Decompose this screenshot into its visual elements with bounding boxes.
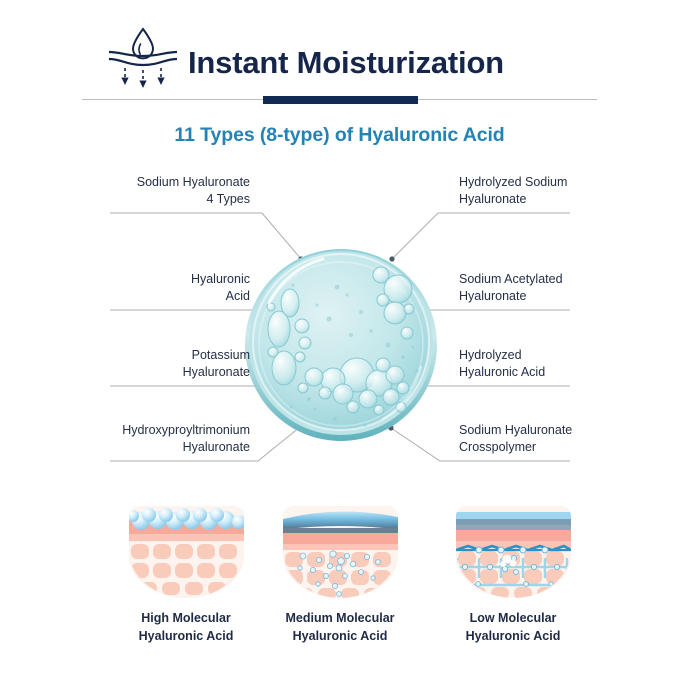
label-line-2: Acid (30, 288, 250, 305)
label-line-1: Sodium Acetylated (459, 271, 669, 288)
caption-line-2: Hyaluronic Acid (265, 627, 415, 645)
label-line-2: Crosspolymer (459, 439, 669, 456)
molecular-type-medium: Medium Molecular Hyaluronic Acid (265, 506, 415, 645)
label-line-2: Hyaluronate (459, 191, 669, 208)
label-line-2: Hyaluronate (459, 288, 669, 305)
caption-line-1: High Molecular (111, 609, 261, 627)
page-subtitle: 11 Types (8-type) of Hyaluronic Acid (0, 124, 679, 147)
label-line-2: Hyaluronic Acid (459, 364, 669, 381)
label-hyaluronic-acid: Hyaluronic Acid (30, 271, 250, 305)
molecular-type-high: High Molecular Hyaluronic Acid (111, 506, 261, 645)
page-title: Instant Moisturization (188, 46, 608, 80)
skin-cross-section-medium-molecular (283, 506, 398, 598)
caption-line-2: Hyaluronic Acid (438, 627, 588, 645)
header-divider-accent (263, 96, 418, 104)
caption-line-2: Hyaluronic Acid (111, 627, 261, 645)
label-hydroxyproyltrimonium-hyaluronate: Hydroxyproyltrimonium Hyaluronate (24, 422, 250, 456)
skin-cross-section-low-molecular (456, 506, 571, 598)
label-line-1: Hyaluronic (30, 271, 250, 288)
label-line-1: Sodium Hyaluronate (30, 174, 250, 191)
molecular-type-caption: Low Molecular Hyaluronic Acid (438, 609, 588, 645)
label-sodium-hyaluronate-crosspolymer: Sodium Hyaluronate Crosspolymer (459, 422, 669, 456)
molecular-type-caption: Medium Molecular Hyaluronic Acid (265, 609, 415, 645)
label-hydrolyzed-sodium-hyaluronate: Hydrolyzed Sodium Hyaluronate (459, 174, 669, 208)
label-line-2: Hyaluronate (24, 439, 250, 456)
infographic-root: Instant Moisturization 11 Types (8-type)… (0, 0, 679, 679)
label-line-2: Hyaluronate (30, 364, 250, 381)
label-potassium-hyaluronate: Potassium Hyaluronate (30, 347, 250, 381)
label-line-2: 4 Types (30, 191, 250, 208)
label-sodium-hyaluronate-4-types: Sodium Hyaluronate 4 Types (30, 174, 250, 208)
label-sodium-acetylated-hyaluronate: Sodium Acetylated Hyaluronate (459, 271, 669, 305)
hyaluronic-acid-gel-petri-dish (243, 247, 439, 443)
label-hydrolyzed-hyaluronic-acid: Hydrolyzed Hyaluronic Acid (459, 347, 669, 381)
skin-cross-section-high-molecular (129, 506, 244, 598)
label-line-1: Potassium (30, 347, 250, 364)
molecular-type-low: Low Molecular Hyaluronic Acid (438, 506, 588, 645)
label-line-1: Hydrolyzed (459, 347, 669, 364)
label-line-1: Sodium Hyaluronate (459, 422, 669, 439)
water-drop-absorption-icon (101, 26, 185, 88)
caption-line-1: Low Molecular (438, 609, 588, 627)
label-line-1: Hydrolyzed Sodium (459, 174, 669, 191)
caption-line-1: Medium Molecular (265, 609, 415, 627)
label-line-1: Hydroxyproyltrimonium (24, 422, 250, 439)
molecular-type-caption: High Molecular Hyaluronic Acid (111, 609, 261, 645)
